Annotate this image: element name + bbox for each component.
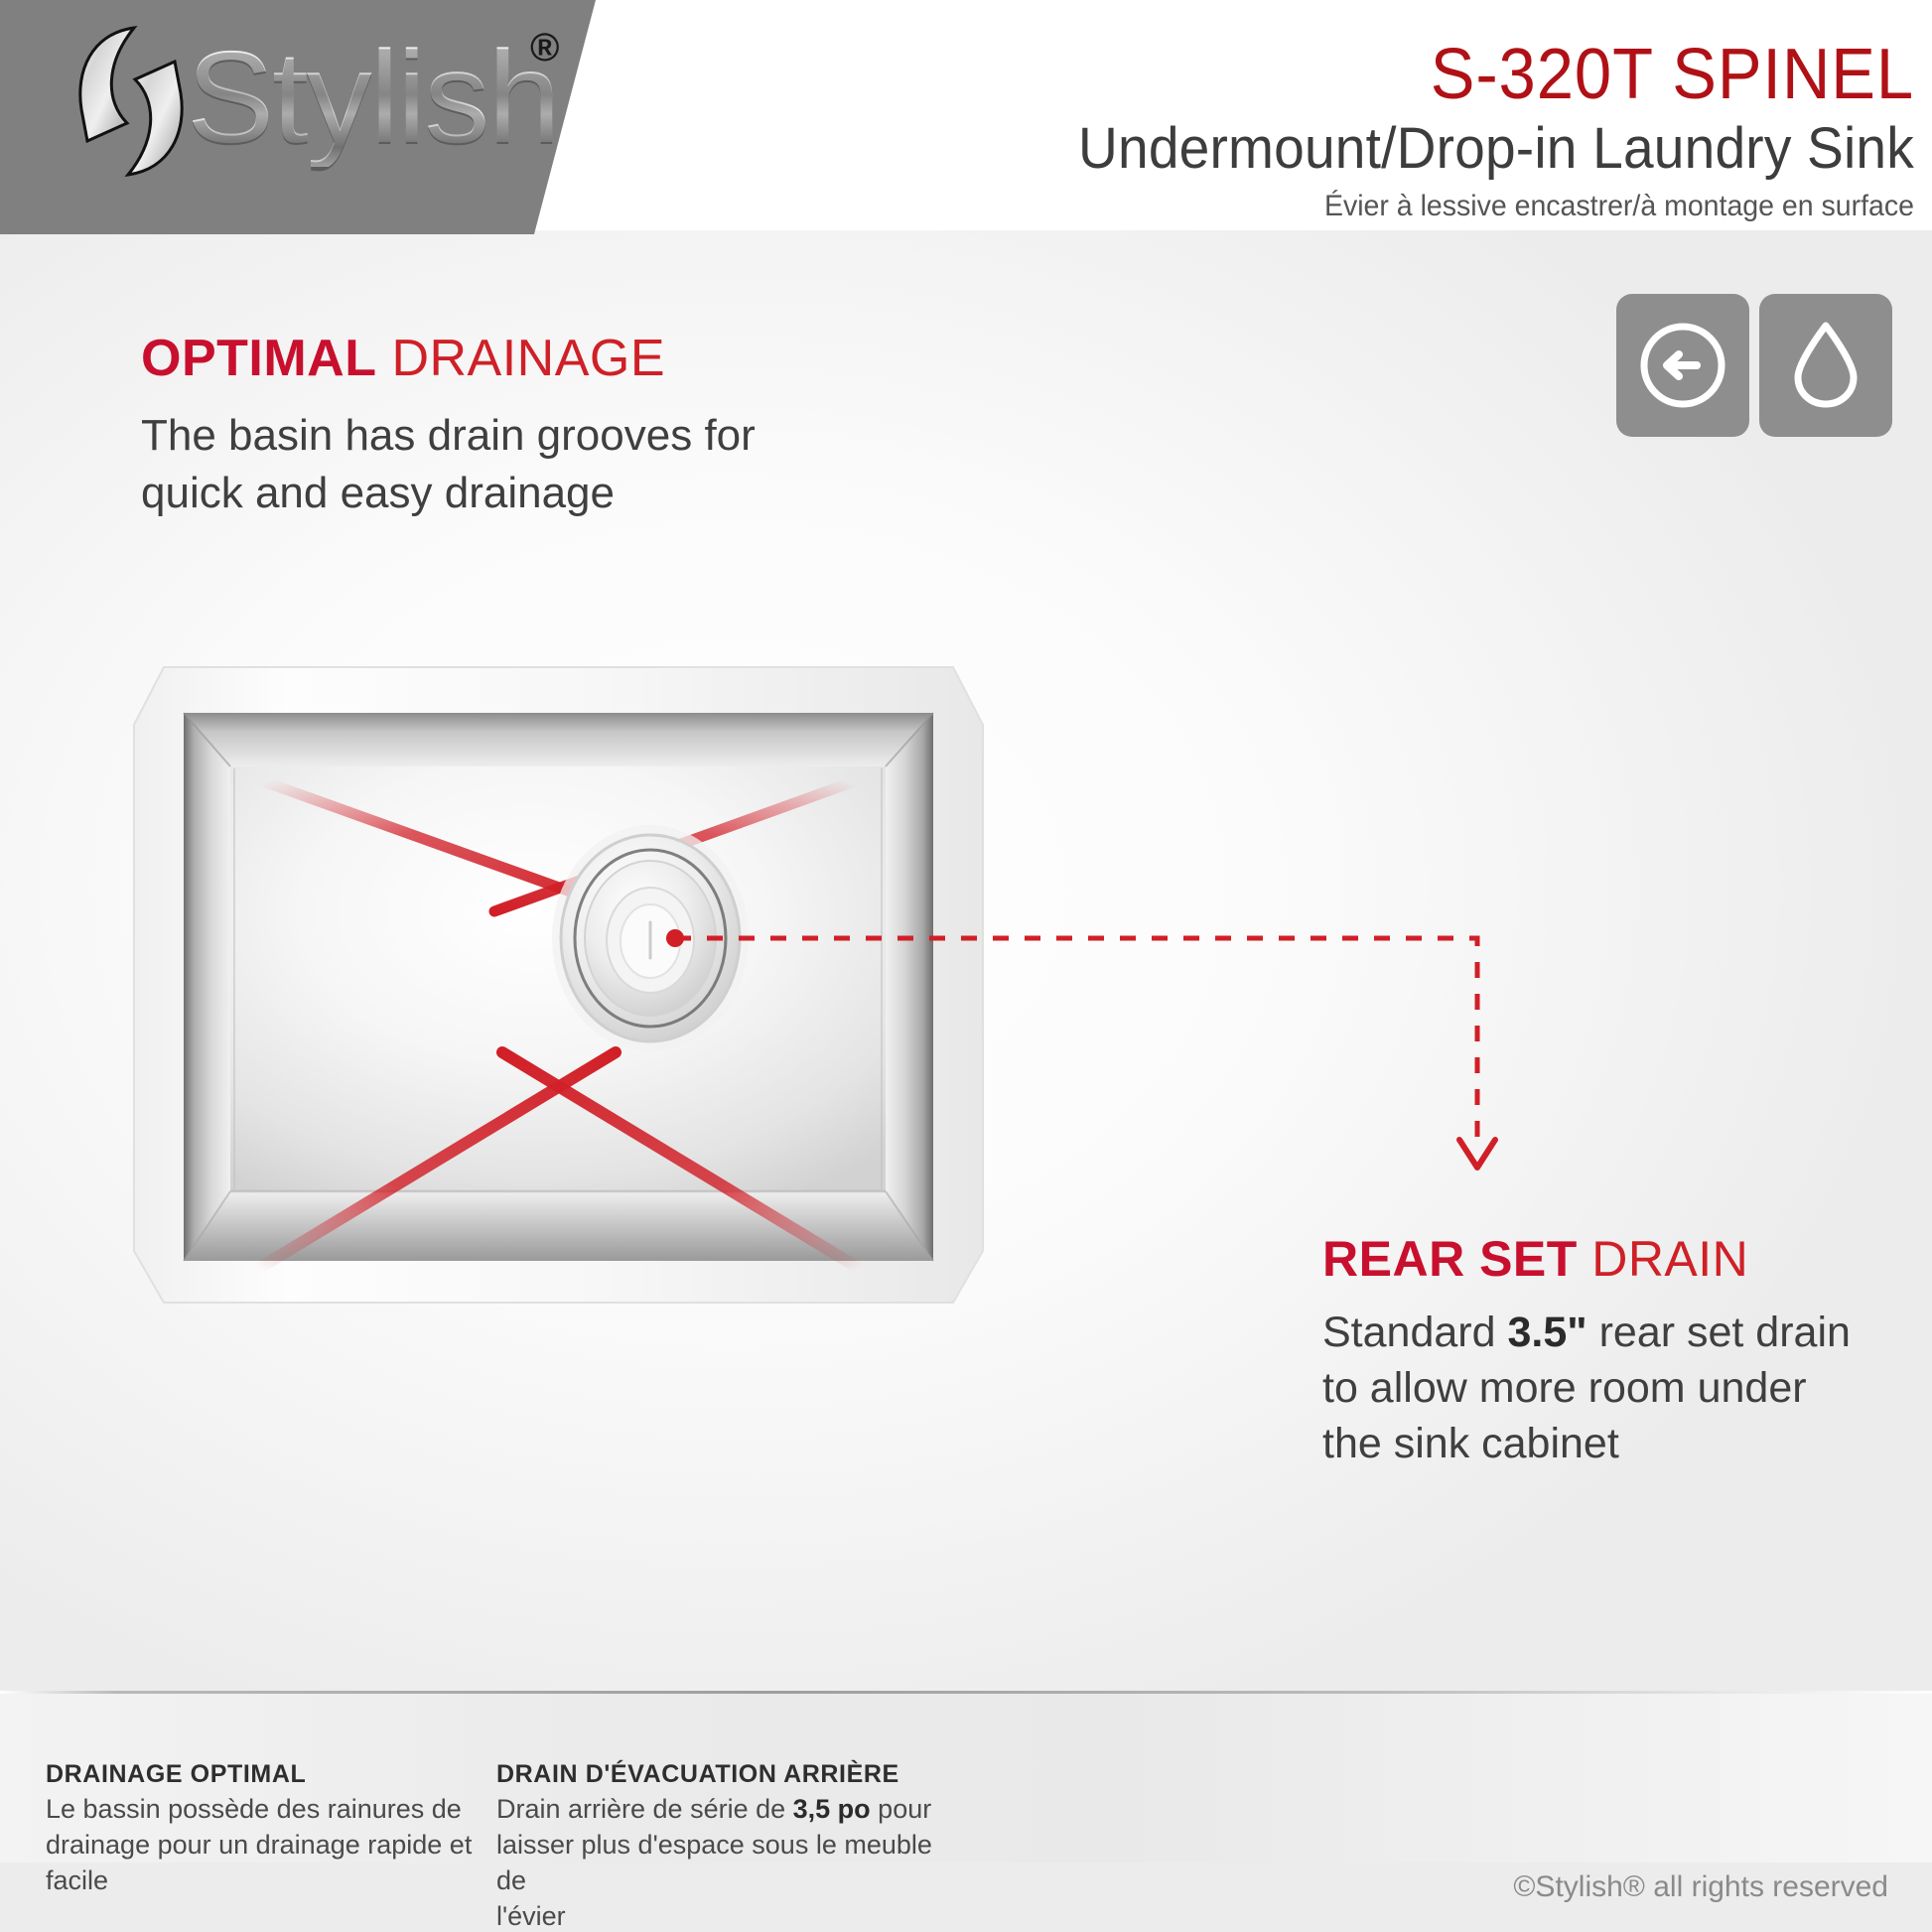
feature-right-heading-light: DRAIN xyxy=(1591,1231,1748,1287)
feature-right-body-line2: to allow more room under xyxy=(1322,1360,1918,1416)
feature-right-body-pre: Standard xyxy=(1322,1309,1507,1356)
sink-wall-top xyxy=(184,713,933,766)
feature-right-body-line3: the sink cabinet xyxy=(1322,1416,1918,1471)
feature-left-body-line2: quick and easy drainage xyxy=(141,465,896,522)
feature-left-body-line1: The basin has drain grooves for xyxy=(141,407,896,465)
feature-left-body: The basin has drain grooves for quick an… xyxy=(141,407,896,522)
footer-column-drainage-optimal: DRAINAGE OPTIMAL Le bassin possède des r… xyxy=(46,1757,483,1898)
product-image-stainless-laundry-sink xyxy=(60,635,1350,1420)
footer-title-1: DRAINAGE OPTIMAL xyxy=(46,1757,483,1791)
footer-body-2: Drain arrière de série de 3,5 po pour la… xyxy=(496,1791,943,1932)
feature-right-body-post: rear set drain xyxy=(1587,1309,1851,1356)
page-header: Stylish ® S-320T SPINEL Undermount/Drop-… xyxy=(0,0,1932,238)
footer-title-2: DRAIN D'ÉVACUATION ARRIÈRE xyxy=(496,1757,943,1791)
header-title-block: S-320T SPINEL Undermount/Drop-in Laundry… xyxy=(623,36,1914,228)
sink-wall-left xyxy=(184,713,230,1261)
footer-body-2-pre: Drain arrière de série de xyxy=(496,1794,793,1824)
product-subtitle: Undermount/Drop-in Laundry Sink xyxy=(688,113,1914,185)
copyright-notice: ©Stylish® all rights reserved xyxy=(1513,1870,1888,1904)
feature-right-body: Standard 3.5" rear set drain to allow mo… xyxy=(1322,1305,1918,1471)
brand-plate: Stylish ® xyxy=(0,0,606,234)
product-model-title: S-320T SPINEL xyxy=(714,36,1914,113)
footer-body-1-line1: Le bassin possède des rainures de xyxy=(46,1791,483,1827)
footer-drain-size-metric: 3,5 po xyxy=(793,1794,871,1824)
arrow-left-circle-icon xyxy=(1633,316,1732,415)
product-subtitle-french: Évier à lessive encastrer/à montage en s… xyxy=(688,185,1914,228)
arrow-left-circle-tile xyxy=(1616,294,1749,437)
water-drop-icon xyxy=(1776,316,1875,415)
feature-left-heading-bold: OPTIMAL xyxy=(141,330,376,387)
sink-illustration xyxy=(60,635,1350,1420)
brand-wordmark: Stylish xyxy=(187,28,559,167)
feature-right-heading-bold: REAR SET xyxy=(1322,1231,1578,1287)
feature-icon-tiles xyxy=(1616,294,1892,437)
footer-body-2-post: pour xyxy=(871,1794,932,1824)
footer-column-drain-evacuation: DRAIN D'ÉVACUATION ARRIÈRE Drain arrière… xyxy=(496,1757,943,1932)
sink-wall-right xyxy=(886,713,933,1261)
feature-left-heading-light: DRAINAGE xyxy=(391,330,665,387)
footer-body-2-line3: l'évier xyxy=(496,1898,943,1932)
footer-body-2-line1: Drain arrière de série de 3,5 po pour xyxy=(496,1791,943,1827)
sink-basin-floor xyxy=(230,766,886,1191)
water-drop-tile xyxy=(1759,294,1892,437)
feature-rear-set-drain: REAR SET DRAIN Standard 3.5" rear set dr… xyxy=(1322,1229,1918,1471)
feature-optimal-drainage: OPTIMAL DRAINAGE The basin has drain gro… xyxy=(141,328,896,522)
feature-right-heading: REAR SET DRAIN xyxy=(1322,1229,1918,1289)
feature-right-drain-size: 3.5" xyxy=(1507,1309,1587,1356)
footer-body-1-line3: facile xyxy=(46,1863,483,1898)
product-info-page: Stylish ® S-320T SPINEL Undermount/Drop-… xyxy=(0,0,1932,1932)
callout-arrowhead xyxy=(1459,1140,1495,1168)
registered-mark: ® xyxy=(530,26,559,70)
feature-left-heading: OPTIMAL DRAINAGE xyxy=(141,328,896,389)
footer-body-2-line2: laisser plus d'espace sous le meuble de xyxy=(496,1827,943,1898)
footer-body-1-line2: drainage pour un drainage rapide et xyxy=(46,1827,483,1863)
feature-right-body-line1: Standard 3.5" rear set drain xyxy=(1322,1305,1918,1360)
footer-body-1: Le bassin possède des rainures de draina… xyxy=(46,1791,483,1898)
sink-drain xyxy=(552,825,749,1051)
stylish-s-logo-icon xyxy=(71,24,191,179)
